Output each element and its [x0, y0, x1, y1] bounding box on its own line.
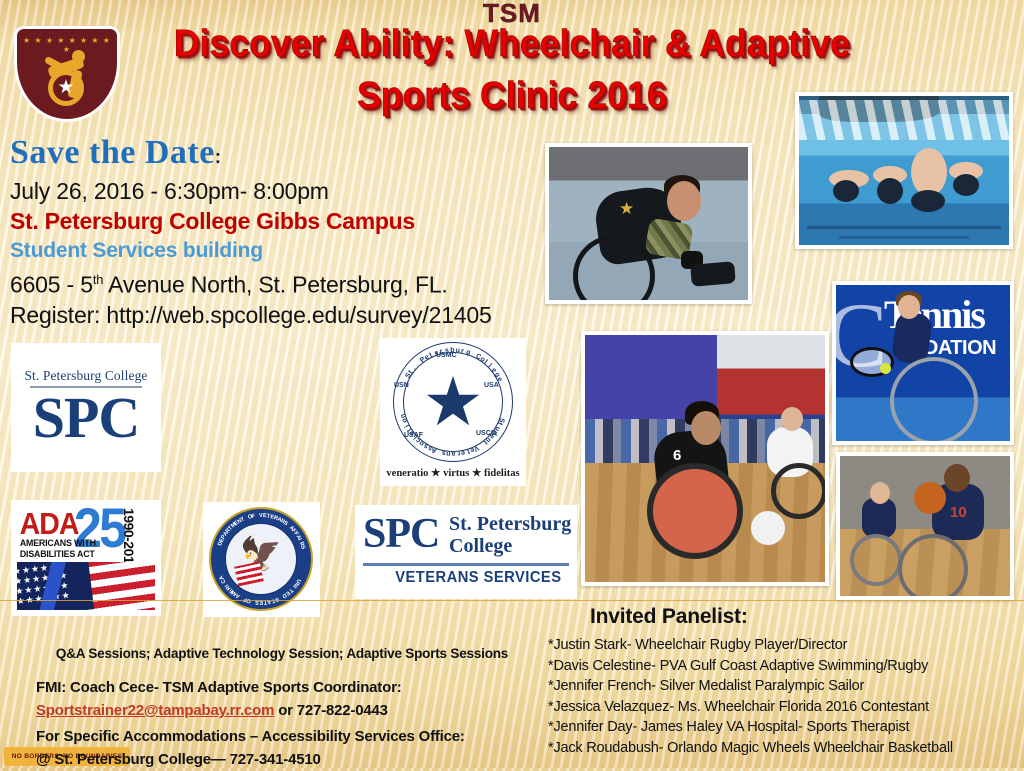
panelist-list: *Justin Stark- Wheelchair Rugby Player/D…: [548, 635, 1024, 758]
event-details: Save the Date: July 26, 2016 - 6:30pm- 8…: [10, 134, 530, 330]
panelist-heading: Invited Panelist:: [590, 605, 1024, 629]
ada-25-logo: ADA 25 1990-2015 AMERICANS WITHDISABILIT…: [11, 500, 161, 616]
sva-branch-label: USN: [394, 382, 409, 389]
panelist-item: *Davis Celestine- PVA Gulf Coast Adaptiv…: [548, 656, 1024, 677]
event-address: 6605 - 5th Avenue North, St. Petersburg,…: [10, 265, 530, 300]
contact-block: FMI: Coach Cece- TSM Adaptive Sports Coo…: [36, 676, 556, 771]
invited-panelist-section: Invited Panelist: *Justin Stark- Wheelch…: [548, 600, 1024, 758]
event-building: Student Services building: [10, 236, 530, 265]
fmi-contact-line: Sportstrainer22@tampabay.rr.com or 727-8…: [36, 699, 556, 722]
sva-branch-label: USMC: [436, 352, 457, 359]
save-the-date-text: Save the Date: [10, 134, 215, 171]
address-number: 6605 - 5: [10, 272, 93, 298]
spcvs-rule: [363, 563, 569, 566]
event-date-time: July 26, 2016 - 6:30pm- 8:00pm: [10, 176, 530, 206]
save-the-date-heading: Save the Date:: [10, 134, 530, 172]
phone-text: or 727-822-0443: [274, 702, 388, 719]
title-line-1: Discover Ability: Wheelchair & Adaptive: [174, 23, 850, 65]
panelist-item: *Jennifer Day- James Haley VA Hospital- …: [548, 717, 1024, 738]
address-ordinal-suffix: th: [93, 272, 103, 287]
spc-logo: St. Petersburg College SPC: [11, 343, 161, 472]
sva-arc-bottom-text: Student Veterans Association: [393, 342, 513, 462]
sva-branch-label: USCG: [476, 430, 496, 437]
army-wheelchair-athlete-photo: ★: [545, 143, 752, 304]
spc-veterans-services-logo: SPC St. PetersburgCollege VETERANS SERVI…: [355, 505, 577, 599]
wheelchair-rugby-photo: 6: [581, 331, 829, 586]
register-link[interactable]: Register: http://web.spcollege.edu/surve…: [10, 300, 530, 330]
accommodations-label: For Specific Accommodations – Accessibil…: [36, 725, 556, 748]
event-campus: St. Petersburg College Gibbs Campus: [10, 206, 530, 236]
ada-logo-subtitle: AMERICANS WITHDISABILITIES ACT: [20, 538, 96, 560]
sva-branch-label: USA: [484, 382, 499, 389]
wheelchair-athlete-icon: ★: [40, 50, 94, 104]
spcvs-acronym: SPC: [363, 513, 439, 555]
va-arc-bottom-text: UNITED STATES OF AMERICA: [209, 507, 313, 611]
wheelchair-tennis-photo: C TennisUNDATION: [832, 281, 1014, 445]
sessions-line: Q&A Sessions; Adaptive Technology Sessio…: [22, 646, 542, 661]
save-the-date-colon: :: [215, 147, 222, 168]
underwater-swimmers-photo: [795, 92, 1013, 249]
us-flag-image: ★★★★★★★★★★★★★★★★★★★★★★★★: [17, 562, 155, 610]
address-street: Avenue North, St. Petersburg, FL.: [103, 272, 447, 298]
flyer-canvas: Discover Ability: Wheelchair & Adaptive …: [0, 0, 1024, 768]
email-link[interactable]: Sportstrainer22@tampabay.rr.com: [36, 702, 274, 719]
tsm-logo: TSM ★ ★ ★ ★ ★ ★ ★ ★ ★ ★ NO BORDERS. NO B…: [0, 0, 134, 144]
spc-logo-name: St. Petersburg College: [24, 368, 147, 384]
spcvs-subtitle: VETERANS SERVICES: [396, 569, 562, 587]
panelist-item: *Justin Stark- Wheelchair Rugby Player/D…: [548, 635, 1024, 656]
wheelchair-basketball-photo: 10: [836, 452, 1014, 600]
spc-logo-acronym: SPC: [33, 388, 140, 448]
panelist-item: *Jack Roudabush- Orlando Magic Wheels Wh…: [548, 738, 1024, 759]
tsm-logo-word: TSM: [0, 0, 1024, 29]
sva-motto: veneratio ★ virtus ★ fidelitas: [380, 467, 526, 479]
sva-branch-label: USAF: [404, 432, 423, 439]
panelist-item: *Jennifer French- Silver Medalist Paraly…: [548, 676, 1024, 697]
fmi-label: FMI: Coach Cece- TSM Adaptive Sports Coo…: [36, 676, 556, 699]
ada-logo-word: ADA: [20, 506, 79, 542]
student-veterans-association-logo: ★ St. Petersburg College Student Veteran…: [380, 338, 526, 486]
spcvs-college-name: St. PetersburgCollege: [449, 513, 571, 557]
panelist-item: *Jessica Velazquez- Ms. Wheelchair Flori…: [548, 697, 1024, 718]
